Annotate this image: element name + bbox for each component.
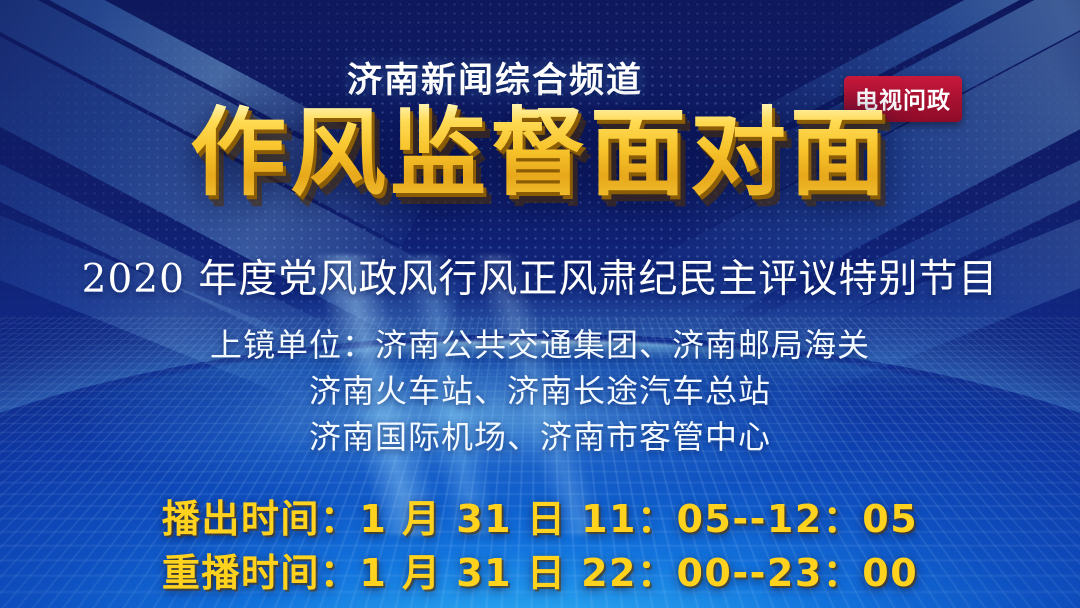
list-item: 济南国际机场、济南市客管中心 <box>0 414 1080 460</box>
rerun-time: 重播时间：1 月 31 日 22：00--23：00 <box>0 546 1080 600</box>
poster-content: 济南新闻综合频道 电视问政 作风监督面对面 2020 年度党风政风行风正风肃纪民… <box>0 0 1080 608</box>
broadcast-promo-poster: 济南新闻综合频道 电视问政 作风监督面对面 2020 年度党风政风行风正风肃纪民… <box>0 0 1080 608</box>
list-item: 济南火车站、济南长途汽车总站 <box>0 368 1080 414</box>
featured-units-list: 上镜单位：济南公共交通集团、济南邮局海关 济南火车站、济南长途汽车总站 济南国际… <box>0 322 1080 460</box>
list-item: 上镜单位：济南公共交通集团、济南邮局海关 <box>0 322 1080 368</box>
program-subtitle: 2020 年度党风政风行风正风肃纪民主评议特别节目 <box>0 248 1080 304</box>
broadcast-schedule: 播出时间：1 月 31 日 11：05--12：05 重播时间：1 月 31 日… <box>0 492 1080 600</box>
page-title: 作风监督面对面 <box>0 104 1080 204</box>
air-time: 播出时间：1 月 31 日 11：05--12：05 <box>0 492 1080 546</box>
